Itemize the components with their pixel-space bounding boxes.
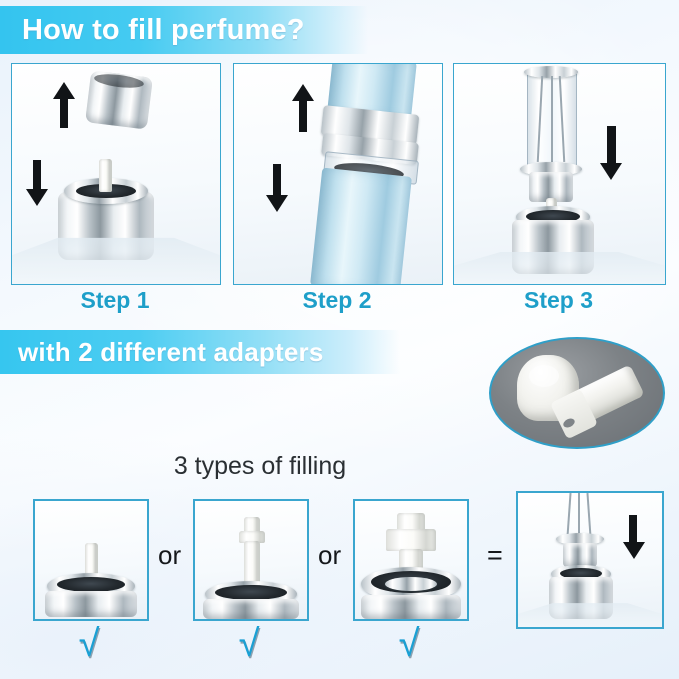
adapters-banner: with 2 different adapters (0, 330, 400, 374)
step-3-scene (454, 64, 665, 284)
option-narrow-adapter-image (193, 499, 309, 621)
step-1-label: Step 1 (11, 287, 219, 314)
glass-bottle-body (454, 250, 665, 284)
title-text: How to fill perfume? (0, 14, 305, 47)
checkmark-option-3: √ (353, 625, 465, 663)
separator-or-2: or (318, 540, 341, 571)
inner-tube-wire (566, 493, 571, 537)
separator-equals: = (487, 540, 503, 571)
step-2-image (233, 63, 443, 285)
bottle-top-slot (215, 585, 287, 600)
option-bare-nozzle-image (33, 499, 149, 621)
step-3-image (453, 63, 666, 285)
step-3-label: Step 3 (453, 287, 664, 314)
bottle-collar (45, 591, 137, 617)
bottle-top-inner-ring (385, 577, 437, 591)
result-filled-atomizer-image (516, 491, 664, 629)
checkmark-option-1: √ (33, 625, 145, 663)
title-banner: How to fill perfume? (0, 6, 368, 54)
atomizer-lower-tube (310, 168, 412, 285)
step-2-scene (234, 64, 442, 284)
inner-tube-wire (586, 493, 591, 537)
option-3-scene (355, 501, 467, 619)
inner-tube-wire (551, 76, 553, 162)
glass-bottle-body (12, 236, 220, 284)
option-1-scene (35, 501, 147, 619)
checkmark-option-2: √ (193, 625, 305, 663)
option-wide-adapter-image (353, 499, 469, 621)
option-2-scene (195, 501, 307, 619)
result-scene (518, 493, 662, 627)
bottle-nozzle (99, 159, 112, 192)
wide-adapter-flange (386, 529, 436, 551)
adapters-photo (489, 337, 665, 449)
bottle-top-slot (57, 577, 125, 592)
glass-bottle-body (518, 601, 662, 627)
step-1-scene (12, 64, 220, 284)
step-2-label: Step 2 (233, 287, 441, 314)
infographic-stage: How to fill perfume? (0, 0, 679, 679)
separator-or-1: or (158, 540, 181, 571)
inner-tube-wire (578, 493, 580, 537)
types-title: 3 types of filling (0, 452, 520, 481)
atomizer-metal-collar (563, 543, 597, 567)
adapters-banner-text: with 2 different adapters (0, 337, 324, 368)
step-1-image (11, 63, 221, 285)
bottle-collar (361, 595, 461, 619)
bottle-collar (203, 599, 299, 619)
